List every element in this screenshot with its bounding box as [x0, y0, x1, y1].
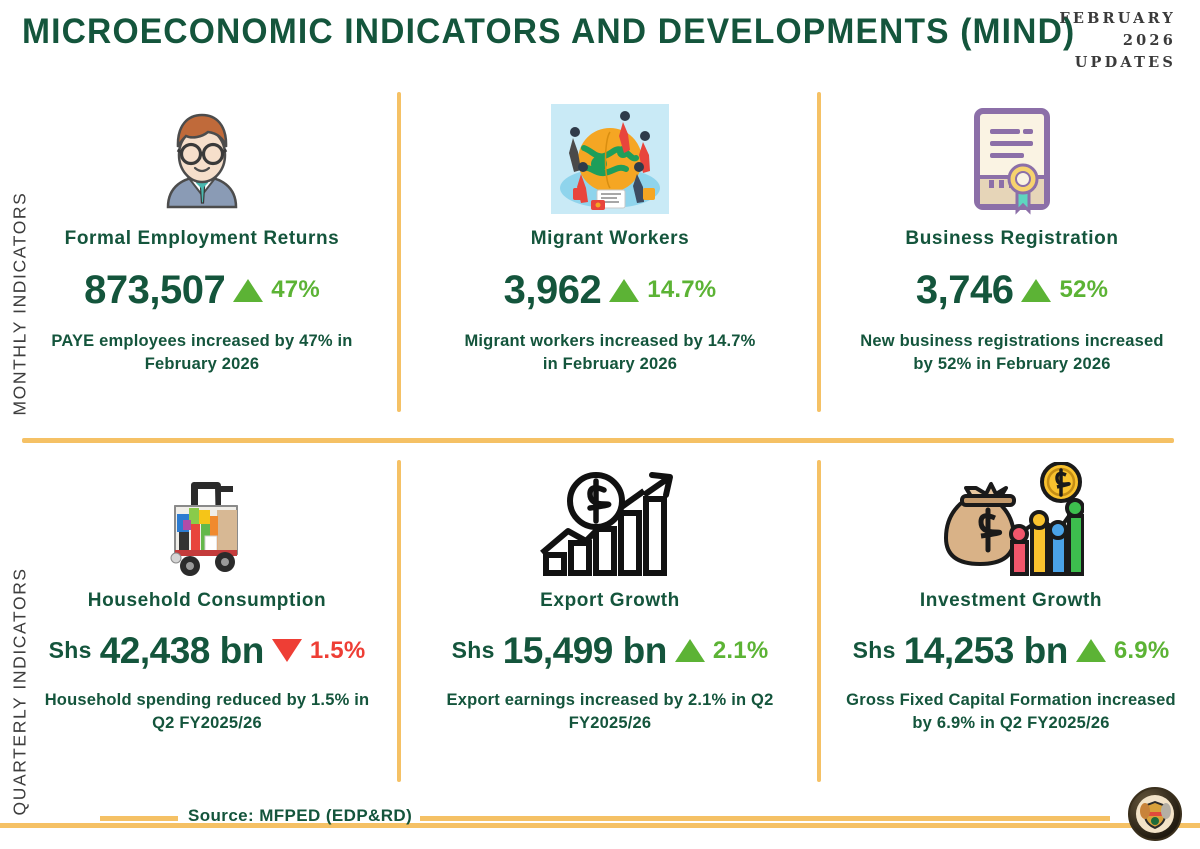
triangle-down-icon: [272, 639, 302, 662]
card-description: Migrant workers increased by 14.7% in Fe…: [455, 330, 765, 376]
card-description: Gross Fixed Capital Formation increased …: [845, 689, 1177, 735]
card-title: Business Registration: [852, 228, 1172, 250]
card-description: Export earnings increased by 2.1% in Q2 …: [442, 689, 778, 735]
page-title: MICROECONOMIC INDICATORS AND DEVELOPMENT…: [22, 12, 1020, 52]
card-value-row: Shs 42,438 bn 1.5%: [42, 632, 372, 669]
card-value: 3,962: [504, 270, 602, 310]
card-title: Investment Growth: [845, 590, 1177, 612]
rail-label-monthly: MONTHLY INDICATORS: [0, 95, 40, 415]
horizontal-divider-middle: [22, 438, 1174, 443]
growth-chart-dollar-icon: [442, 462, 778, 580]
vertical-divider-bottom-1: [397, 460, 401, 782]
card-percent: 6.9%: [1114, 637, 1170, 665]
migrant-workers-globe-icon: [455, 100, 765, 218]
card-value: 3,746: [916, 270, 1014, 310]
card-investment-growth: Investment Growth Shs 14,253 bn 6.9% Gro…: [845, 462, 1177, 735]
card-percent: 47%: [271, 276, 320, 304]
card-value: 873,507: [84, 270, 225, 310]
footer-rule-right: [420, 816, 1110, 821]
card-value-row: 3,746 52%: [852, 270, 1172, 310]
card-currency: Shs: [452, 637, 495, 664]
triangle-up-icon: [1021, 279, 1051, 302]
card-value-row: Shs 15,499 bn 2.1%: [442, 632, 778, 669]
footer-rule-left: [100, 816, 178, 821]
card-value: 42,438 bn: [100, 632, 264, 669]
card-currency: Shs: [853, 637, 896, 664]
office-worker-icon: [42, 100, 362, 218]
triangle-up-icon: [233, 279, 263, 302]
card-description: Household spending reduced by 1.5% in Q2…: [42, 689, 372, 735]
card-title: Migrant Workers: [455, 228, 765, 250]
certificate-icon: [852, 100, 1172, 218]
card-value-row: 3,962 14.7%: [455, 270, 765, 310]
infographic-page: MICROECONOMIC INDICATORS AND DEVELOPMENT…: [0, 0, 1200, 849]
triangle-up-icon: [609, 279, 639, 302]
header-date-month: FEBRUARY: [996, 8, 1176, 30]
card-description: New business registrations increased by …: [852, 330, 1172, 376]
card-value-row: Shs 14,253 bn 6.9%: [845, 632, 1177, 669]
triangle-up-icon: [1076, 639, 1106, 662]
page-header: MICROECONOMIC INDICATORS AND DEVELOPMENT…: [0, 0, 1200, 86]
money-bag-chart-icon: [845, 462, 1177, 580]
vertical-divider-top-2: [817, 92, 821, 412]
card-business-registration: Business Registration 3,746 52% New busi…: [852, 100, 1172, 376]
card-migrant-workers: Migrant Workers 3,962 14.7% Migrant work…: [455, 100, 765, 376]
rail-label-monthly-text: MONTHLY INDICATORS: [10, 96, 31, 416]
card-formal-employment-returns: Formal Employment Returns 873,507 47% PA…: [42, 100, 362, 376]
card-household-consumption: Household Consumption Shs 42,438 bn 1.5%…: [42, 462, 372, 735]
card-percent: 1.5%: [310, 637, 366, 665]
card-value: 15,499 bn: [503, 632, 667, 669]
card-percent: 52%: [1059, 276, 1108, 304]
page-bottom-border: [0, 823, 1200, 828]
triangle-up-icon: [675, 639, 705, 662]
vertical-divider-top-1: [397, 92, 401, 412]
card-value: 14,253 bn: [904, 632, 1068, 669]
card-title: Household Consumption: [42, 590, 372, 612]
card-percent: 14.7%: [647, 276, 716, 304]
rail-label-quarterly-text: QUARTERLY INDICATORS: [10, 456, 31, 816]
vertical-divider-bottom-2: [817, 460, 821, 782]
card-percent: 2.1%: [713, 637, 769, 665]
header-date-year: 2026: [996, 30, 1176, 52]
uganda-coat-of-arms-icon: [1128, 787, 1182, 841]
card-export-growth: Export Growth Shs 15,499 bn 2.1% Export …: [442, 462, 778, 735]
header-date: FEBRUARY 2026 UPDATES: [996, 8, 1176, 74]
header-date-updates: UPDATES: [996, 52, 1176, 74]
card-title: Formal Employment Returns: [42, 228, 362, 250]
rail-label-quarterly: QUARTERLY INDICATORS: [0, 455, 40, 815]
card-currency: Shs: [49, 637, 92, 664]
card-description: PAYE employees increased by 47% in Febru…: [42, 330, 362, 376]
card-value-row: 873,507 47%: [42, 270, 362, 310]
source-label: Source: MFPED (EDP&RD): [188, 806, 412, 826]
card-title: Export Growth: [442, 590, 778, 612]
shopping-cart-icon: [42, 462, 372, 580]
